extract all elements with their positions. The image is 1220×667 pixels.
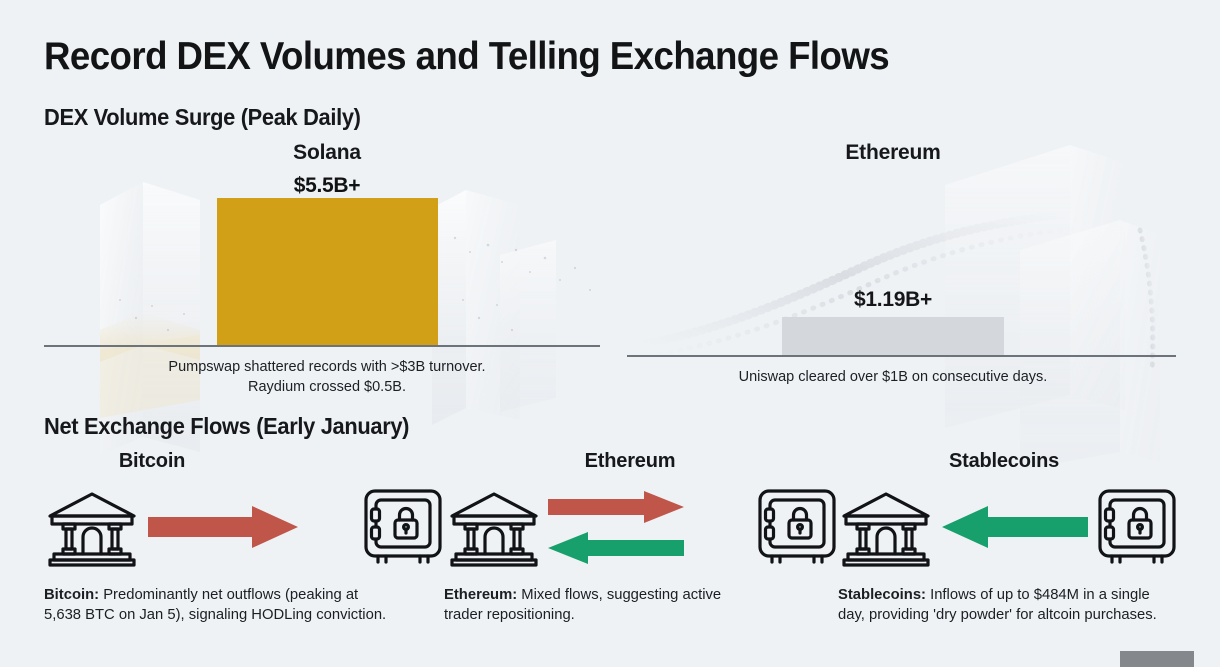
bank-icon (838, 487, 934, 567)
dex-caption-solana-line1: Pumpswap shattered records with >$3B tur… (168, 358, 485, 377)
bar-solana (217, 198, 438, 345)
bank-icon (446, 487, 542, 567)
axis-wrap-ethereum (610, 355, 1176, 357)
dex-panel-solana: Solana $5.5B+ Pumpswap shattered records… (44, 137, 610, 387)
flow-title-ethereum: Ethereum (444, 450, 838, 473)
arrow-stack-ethereum (542, 490, 756, 565)
dex-caption-ethereum-line1: Uniswap cleared over $1B on consecutive … (739, 368, 1048, 387)
arrow-stack-stablecoins (934, 505, 1096, 549)
flow-title-stablecoins: Stablecoins (838, 450, 1176, 473)
flow-title-bitcoin: Bitcoin (44, 450, 444, 473)
flow-desc-label-ethereum: Ethereum: (444, 587, 517, 603)
flow-desc-label-bitcoin: Bitcoin: (44, 587, 99, 603)
flow-graphic-stablecoins (838, 481, 1176, 573)
flow-panel-bitcoin: Bitcoin (44, 450, 444, 625)
arrow-vault-to-bank-icon (548, 531, 684, 565)
dex-plot-ethereum: $1.19B+ (610, 165, 1176, 355)
axis-wrap-solana (44, 345, 610, 347)
arrow-bank-to-vault-icon (148, 505, 298, 549)
dex-panel-ethereum: Ethereum $1.19B+ Uniswap cleared over $1… (610, 137, 1176, 387)
flow-graphic-bitcoin (44, 481, 444, 573)
flow-panel-ethereum: Ethereum (444, 450, 838, 625)
net-exchange-flows: Bitcoin (44, 450, 1176, 625)
dex-value-label-ethereum: $1.19B+ (854, 288, 932, 312)
dex-caption-solana: Pumpswap shattered records with >$3B tur… (168, 358, 485, 397)
baseline-axis-solana (44, 345, 600, 347)
section-heading-flows: Net Exchange Flows (Early January) (44, 413, 1119, 440)
arrow-vault-to-bank-icon (942, 505, 1088, 549)
infographic-root: Record DEX Volumes and Telling Exchange … (0, 0, 1220, 667)
dex-value-label-solana: $5.5B+ (294, 174, 361, 198)
section-heading-dex: DEX Volume Surge (Peak Daily) (44, 104, 1119, 131)
bar-ethereum (782, 317, 1004, 355)
vault-icon (756, 487, 838, 567)
bank-icon (44, 487, 140, 567)
dex-plot-solana (44, 198, 610, 345)
arrow-stack-bitcoin (140, 505, 362, 549)
dex-caption-solana-line2: Raydium crossed $0.5B. (168, 378, 485, 397)
dex-caption-ethereum: Uniswap cleared over $1B on consecutive … (739, 368, 1048, 387)
vault-icon (1096, 487, 1178, 567)
flow-graphic-ethereum (444, 481, 838, 573)
flow-desc-ethereum: Ethereum: Mixed flows, suggesting active… (444, 585, 756, 625)
flows-heading-wrap: Net Exchange Flows (Early January) (44, 413, 1176, 440)
baseline-axis-ethereum (627, 355, 1176, 357)
flow-panel-stablecoins: Stablecoins (838, 450, 1176, 625)
arrow-bank-to-vault-icon (548, 490, 684, 524)
vault-icon (362, 487, 444, 567)
dex-volume-chart: Solana $5.5B+ Pumpswap shattered records… (44, 137, 1176, 387)
flow-desc-stablecoins: Stablecoins: Inflows of up to $484M in a… (838, 585, 1176, 625)
bottom-right-artifact (1120, 651, 1194, 667)
flow-desc-label-stablecoins: Stablecoins: (838, 587, 926, 603)
flow-desc-bitcoin: Bitcoin: Predominantly net outflows (pea… (44, 585, 396, 625)
dex-chain-label-ethereum: Ethereum (845, 141, 940, 165)
page-title: Record DEX Volumes and Telling Exchange … (44, 36, 1108, 77)
dex-chain-label-solana: Solana (293, 141, 361, 165)
